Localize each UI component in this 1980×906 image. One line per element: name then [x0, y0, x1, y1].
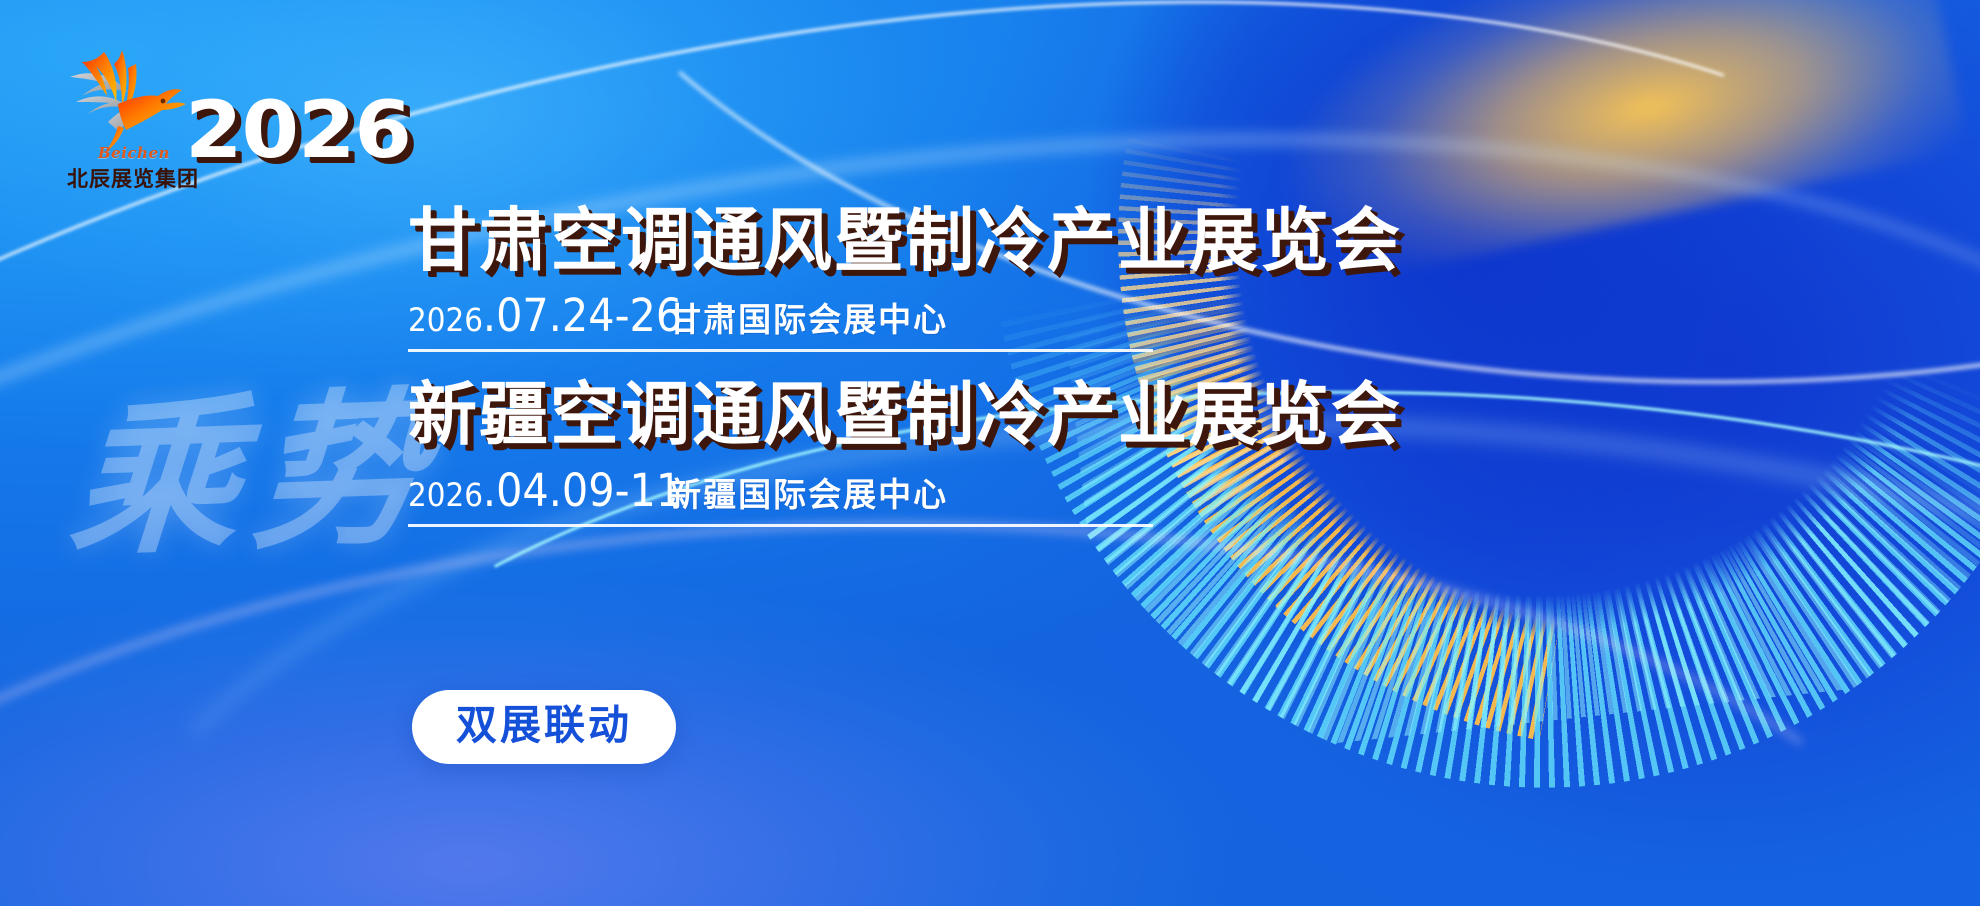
logo-script-text: Beichen [98, 144, 170, 162]
event-block-xinjiang: 新疆空调通风暨制冷产业展览会 2026.04.09-11 新疆国际会展中心 [408, 380, 1648, 526]
event-list: 甘肃空调通风暨制冷产业展览会 2026.07.24-26 甘肃国际会展中心 新疆… [408, 206, 1648, 527]
event-date-rest-xinjiang: .04.09-11 [483, 464, 682, 517]
event-date-gansu: 2026.07.24-26 [408, 289, 682, 342]
event-date-xinjiang: 2026.04.09-11 [408, 464, 682, 517]
event-block-gansu: 甘肃空调通风暨制冷产业展览会 2026.07.24-26 甘肃国际会展中心 [408, 206, 1648, 352]
event-venue-xinjiang: 新疆国际会展中心 [668, 468, 948, 516]
event-title-gansu: 甘肃空调通风暨制冷产业展览会 [408, 206, 1648, 276]
year-badge: 2026 [185, 92, 411, 170]
dual-expo-pill-button[interactable]: 双展联动 [412, 690, 676, 764]
event-date-year-gansu: 2026 [408, 301, 483, 339]
event-venue-gansu: 甘肃国际会展中心 [668, 293, 948, 341]
event-title-xinjiang: 新疆空调通风暨制冷产业展览会 [408, 380, 1648, 450]
exhibition-banner: 乘势 [0, 0, 1980, 906]
event-dateline-xinjiang: 2026.04.09-11 新疆国际会展中心 [408, 464, 1153, 527]
brand-logo[interactable]: Beichen 北辰展览集团 [62, 44, 202, 189]
event-dateline-gansu: 2026.07.24-26 甘肃国际会展中心 [408, 289, 1153, 352]
dual-expo-pill-label: 双展联动 [456, 705, 632, 746]
phoenix-icon [62, 44, 202, 154]
logo-chinese-text: 北辰展览集团 [67, 163, 199, 193]
event-date-rest-gansu: .07.24-26 [483, 289, 682, 342]
event-date-year-xinjiang: 2026 [408, 476, 483, 514]
